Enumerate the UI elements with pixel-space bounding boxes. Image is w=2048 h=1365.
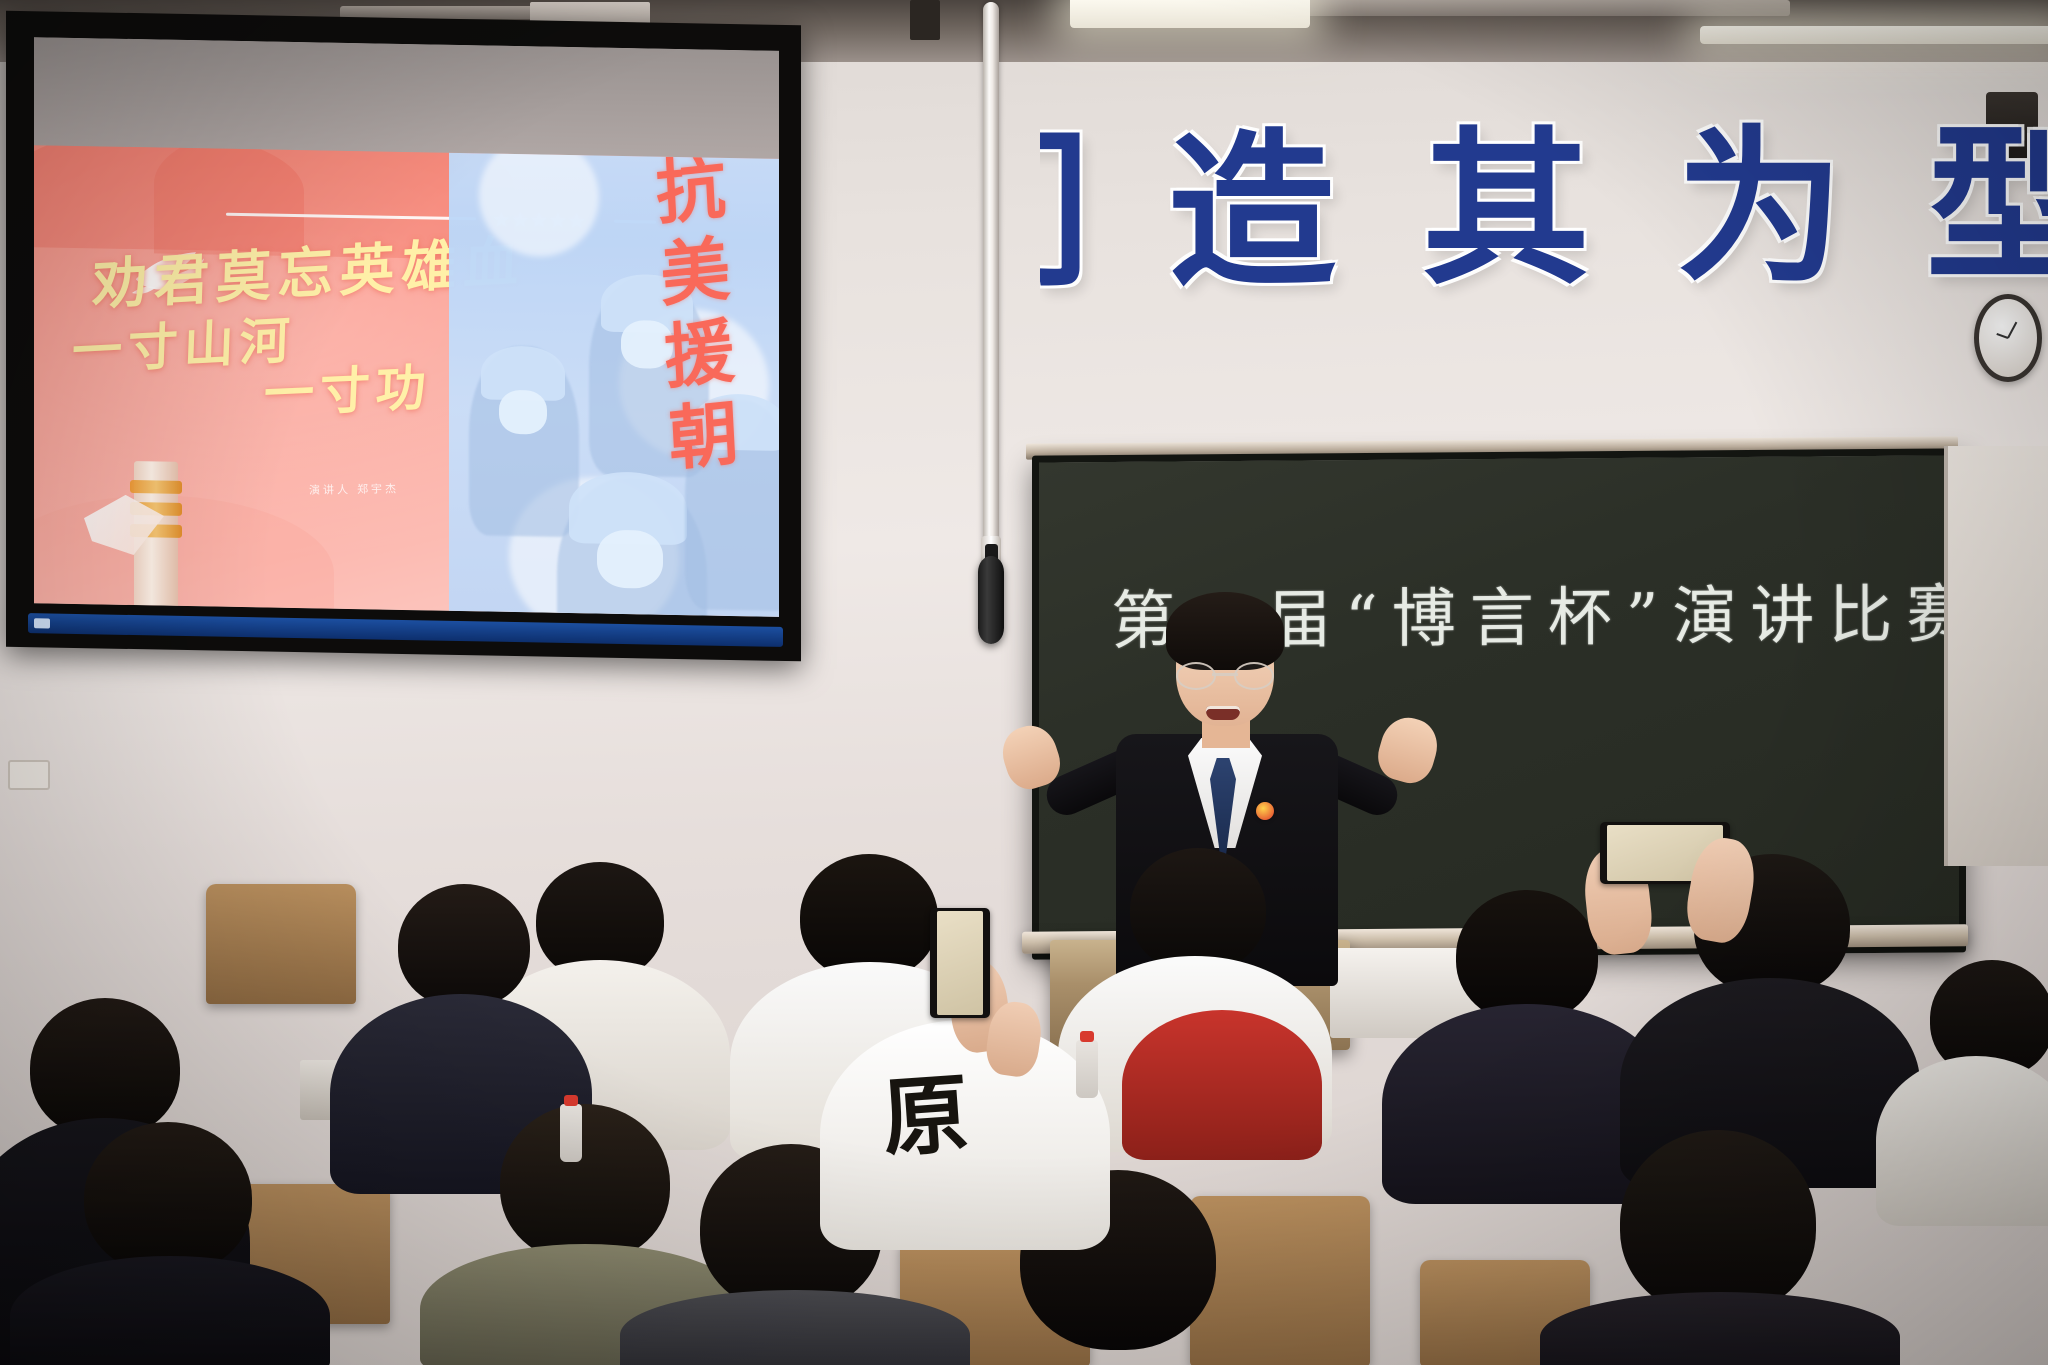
- audience-head: [398, 884, 530, 1008]
- glasses-lens: [1234, 662, 1274, 690]
- audience-body: [1122, 1010, 1322, 1160]
- wall-character-partial: 们: [1040, 128, 1090, 296]
- classroom-speech-scene: 们 造 其 为 型 ★★★★★ 劝君莫忘英雄血 一寸山河 一寸功: [0, 0, 2048, 1365]
- smartphone-recording[interactable]: [930, 908, 990, 1018]
- projection-screen-roller[interactable]: [983, 2, 999, 602]
- screen-blank-area: [34, 37, 779, 161]
- monument-torch-illustration: [90, 430, 210, 612]
- slide-side-calligraphy: 抗美援朝: [634, 148, 752, 486]
- slide-headline-line2: 一寸山河: [71, 300, 297, 384]
- presentation-slide: ★★★★★ 劝君莫忘英雄血 一寸山河 一寸功 演讲人 郑宇杰: [34, 145, 779, 617]
- lapel-pin-icon: [1256, 802, 1274, 820]
- tshirt-print-character: 原: [878, 1043, 973, 1174]
- speaker-mouth: [1206, 706, 1240, 720]
- soldiers-illustration: 抗美援朝: [449, 145, 779, 617]
- torch-band: [130, 480, 182, 494]
- screen-bottom-bar: [28, 613, 783, 647]
- soldier-face: [499, 390, 547, 435]
- air-duct: [910, 0, 940, 40]
- wall-outlet: [8, 760, 50, 790]
- projection-screen-surface: ★★★★★ 劝君莫忘英雄血 一寸山河 一寸功 演讲人 郑宇杰: [34, 37, 779, 617]
- wall-clock: [1974, 294, 2042, 382]
- audience-head: [1130, 848, 1266, 972]
- wall-sign-partial-character: 们: [1040, 128, 1100, 318]
- chair: [206, 884, 356, 1004]
- wall-character-xing: 型: [1926, 122, 2048, 290]
- audience-head: [500, 1104, 670, 1262]
- wall-character-wei: 为: [1676, 124, 1844, 292]
- audience-head: [30, 998, 180, 1138]
- speaker-hair: [1166, 592, 1284, 670]
- audience-head: [84, 1122, 252, 1274]
- hanging-microphone[interactable]: [978, 556, 1004, 644]
- glasses-lens: [1176, 662, 1216, 690]
- slide-presenter-credit: 演讲人 郑宇杰: [309, 480, 400, 497]
- fluorescent-light: [1070, 0, 1310, 28]
- phone-screen: [937, 911, 983, 1015]
- slide-headline-line3: 一寸功: [263, 347, 434, 426]
- fluorescent-light: [1700, 26, 2048, 44]
- water-bottle: [1076, 1040, 1098, 1098]
- water-bottle: [560, 1104, 582, 1162]
- glasses-icon: [1176, 662, 1274, 686]
- chair: [1190, 1196, 1370, 1365]
- wall-character-zao: 造: [1168, 128, 1336, 296]
- wall-character-qi: 其: [1422, 126, 1590, 294]
- projection-screen: ★★★★★ 劝君莫忘英雄血 一寸山河 一寸功 演讲人 郑宇杰: [6, 11, 801, 662]
- soldier-face: [597, 530, 663, 589]
- audience-head: [1456, 890, 1598, 1022]
- side-board-panel: [1944, 446, 2048, 866]
- audience-body: [10, 1256, 330, 1365]
- audience-head: [1620, 1130, 1816, 1316]
